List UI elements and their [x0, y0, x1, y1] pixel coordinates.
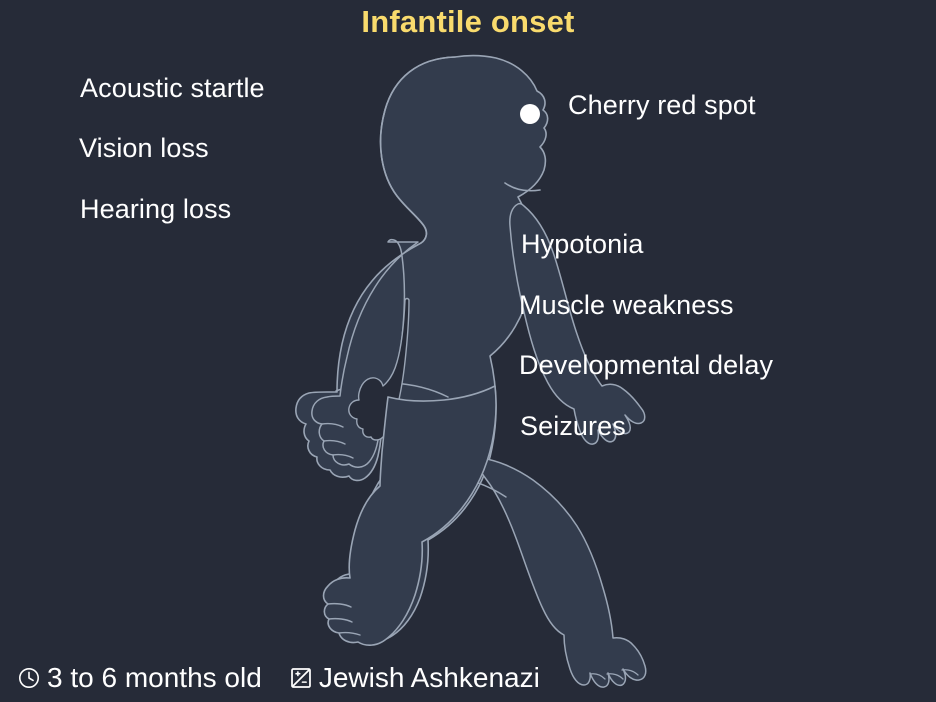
infant-far-leg	[477, 458, 646, 687]
footer-item-age-of-onset: 3 to 6 months old	[16, 664, 262, 692]
infant-silhouette	[0, 0, 936, 702]
symptom-label-acoustic-startle: Acoustic startle	[80, 73, 265, 104]
cherry-red-spot-marker	[520, 104, 540, 124]
footer-item-population: Jewish Ashkenazi	[288, 664, 540, 692]
symptom-label-developmental-delay: Developmental delay	[519, 350, 773, 381]
symptom-label-cherry-red-spot: Cherry red spot	[568, 90, 756, 121]
symptom-label-seizures: Seizures	[520, 411, 626, 442]
symptom-label-vision-loss: Vision loss	[79, 133, 209, 164]
clock-icon	[16, 665, 42, 691]
genetics-icon	[288, 665, 314, 691]
footer-bar: 3 to 6 months old Jewish Ashkenazi	[16, 664, 540, 692]
symptom-label-muscle-weakness: Muscle weakness	[519, 290, 734, 321]
symptom-label-hypotonia: Hypotonia	[521, 229, 643, 260]
infographic-canvas: Infantile onset Acoustic startle	[0, 0, 936, 702]
footer-population-text: Jewish Ashkenazi	[319, 664, 540, 692]
symptom-label-hearing-loss: Hearing loss	[80, 194, 231, 225]
footer-age-text: 3 to 6 months old	[47, 664, 262, 692]
